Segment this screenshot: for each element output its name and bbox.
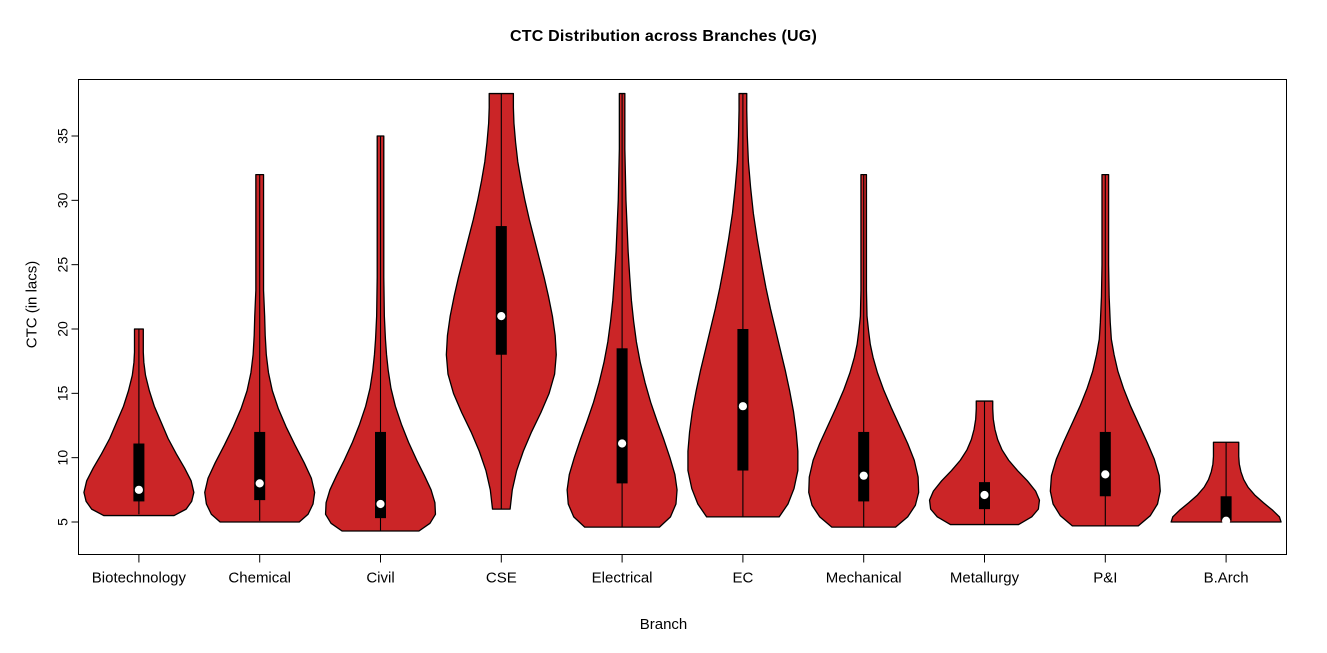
violin-mechanical xyxy=(809,175,919,528)
x-tick-label: Metallurgy xyxy=(950,570,1020,587)
violin-cse xyxy=(446,94,556,510)
x-tick-label: Chemical xyxy=(228,570,291,587)
x-tick-label: P&I xyxy=(1093,570,1117,587)
violin-b-arch xyxy=(1171,442,1281,525)
median-dot xyxy=(1222,517,1230,525)
x-tick-label: CSE xyxy=(486,570,517,587)
median-dot xyxy=(1101,470,1109,478)
median-dot xyxy=(739,402,747,410)
y-tick-label: 10 xyxy=(55,450,71,466)
x-tick-label: Electrical xyxy=(592,570,653,587)
x-tick-label: Mechanical xyxy=(826,570,902,587)
iqr-box xyxy=(617,348,628,483)
median-dot xyxy=(256,479,264,487)
iqr-box xyxy=(254,432,265,500)
chart-root: CTC Distribution across Branches (UG) Br… xyxy=(0,0,1327,653)
violin-metallurgy xyxy=(930,401,1040,525)
violin-electrical xyxy=(567,94,677,528)
violin-civil xyxy=(326,136,436,531)
y-tick-label: 30 xyxy=(55,192,71,208)
x-tick-label: EC xyxy=(732,570,753,587)
y-tick-label: 5 xyxy=(55,518,71,526)
y-tick-label: 15 xyxy=(55,385,71,401)
median-dot xyxy=(980,491,988,499)
y-tick-label: 20 xyxy=(55,321,71,337)
x-tick-label: Biotechnology xyxy=(92,570,187,587)
iqr-box xyxy=(1100,432,1111,496)
violin-plot-canvas: 5101520253035 BiotechnologyChemicalCivil… xyxy=(0,0,1327,653)
median-dot xyxy=(376,500,384,508)
y-tick-label: 25 xyxy=(55,257,71,273)
violin-biotechnology xyxy=(84,329,194,516)
median-dot xyxy=(860,472,868,480)
x-tick-label: B.Arch xyxy=(1204,570,1249,587)
violin-p-i xyxy=(1050,175,1160,526)
violin-chemical xyxy=(205,175,315,522)
x-tick-label: Civil xyxy=(366,570,394,587)
x-axis-ticks: BiotechnologyChemicalCivilCSEElectricalE… xyxy=(92,555,1249,587)
median-dot xyxy=(618,439,626,447)
median-dot xyxy=(135,486,143,494)
iqr-box xyxy=(496,226,507,355)
violins-group xyxy=(84,94,1281,531)
iqr-box xyxy=(737,329,748,471)
y-axis-ticks: 5101520253035 xyxy=(55,128,79,526)
iqr-box xyxy=(858,432,869,501)
median-dot xyxy=(497,312,505,320)
y-tick-label: 35 xyxy=(55,128,71,144)
violin-ec xyxy=(688,94,798,517)
